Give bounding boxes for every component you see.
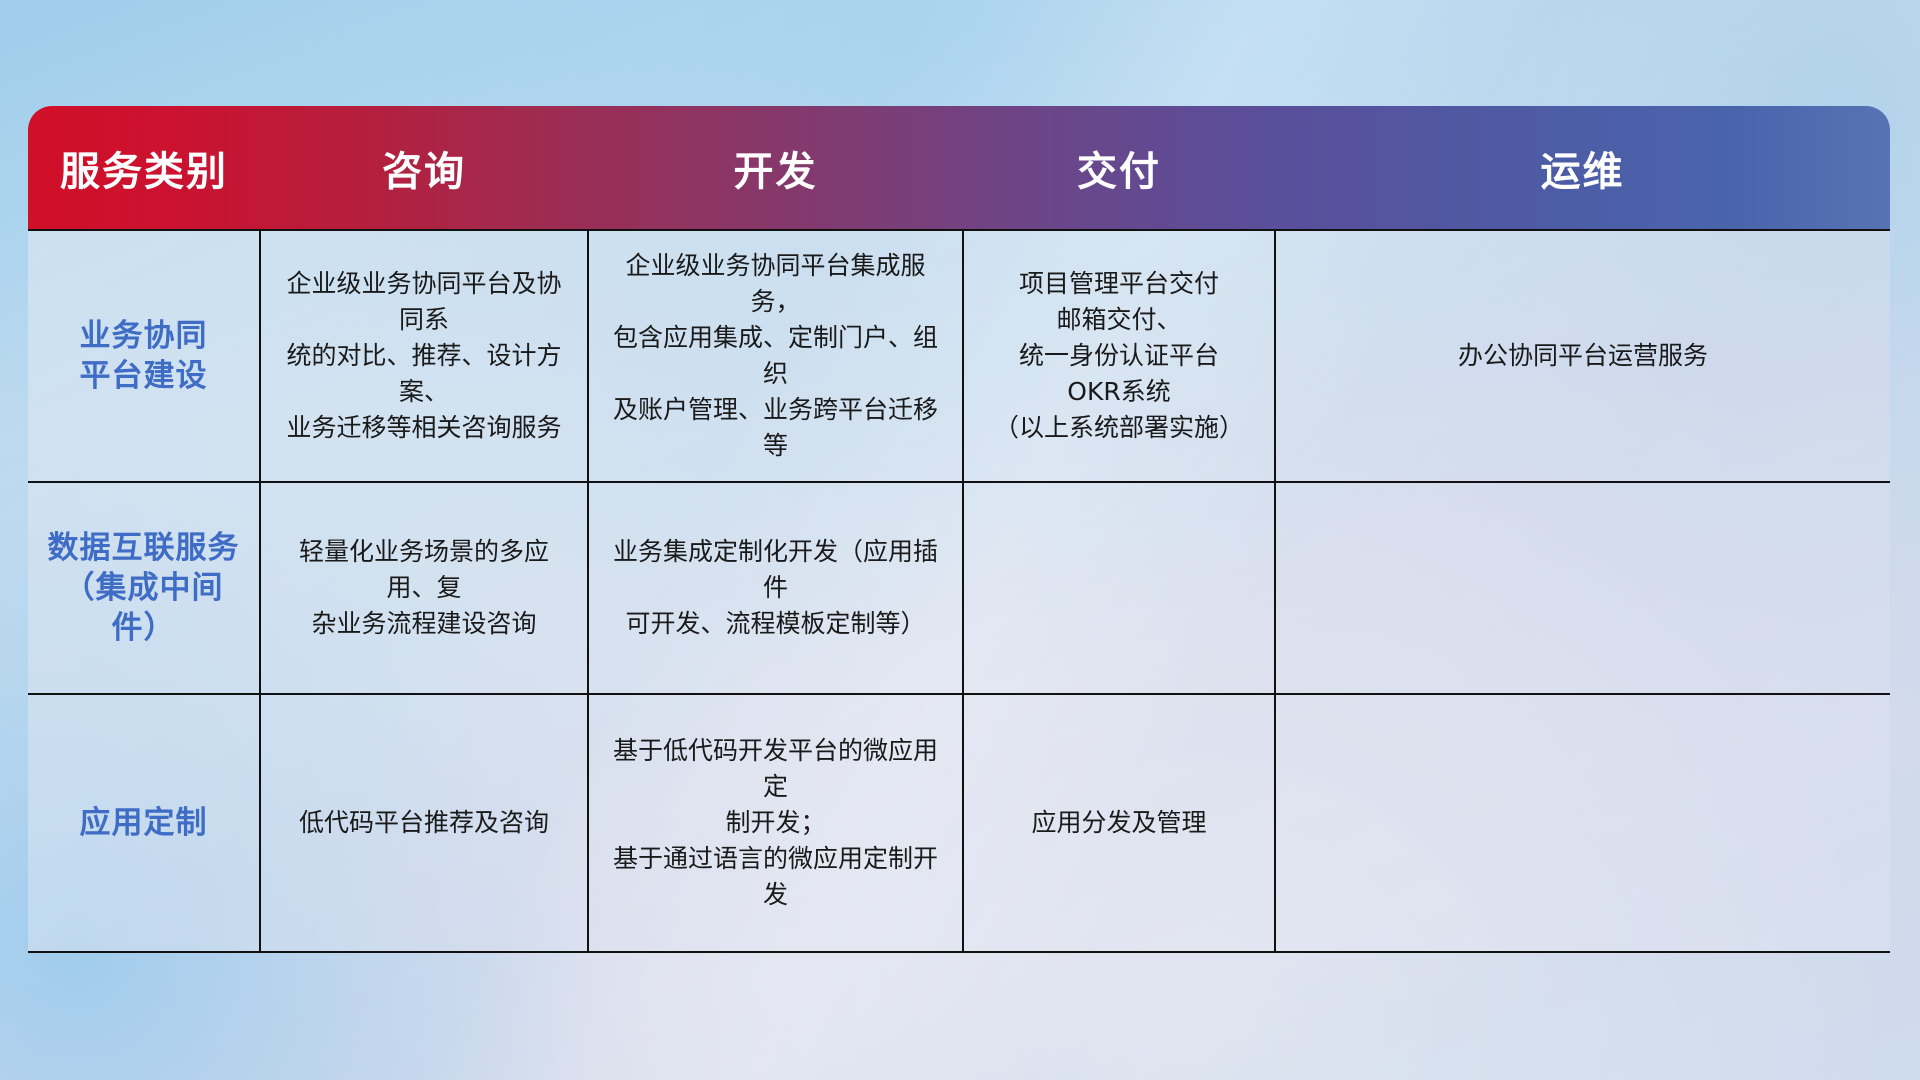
- service-matrix-table-wrapper: 服务类别 咨询 开发 交付 运维 业务协同 平台建设 企业级业务协同平台及协同系…: [28, 106, 1890, 951]
- table-row: 业务协同 平台建设 企业级业务协同平台及协同系 统的对比、推荐、设计方案、 业务…: [28, 230, 1890, 482]
- header-row: 服务类别 咨询 开发 交付 运维: [28, 106, 1890, 230]
- row-category-label: 业务协同 平台建设: [28, 230, 260, 482]
- row-category-label: 应用定制: [28, 694, 260, 952]
- service-matrix-table: 服务类别 咨询 开发 交付 运维 业务协同 平台建设 企业级业务协同平台及协同系…: [28, 106, 1890, 953]
- header-cell-delivery: 交付: [963, 106, 1275, 230]
- cell-consulting: 企业级业务协同平台及协同系 统的对比、推荐、设计方案、 业务迁移等相关咨询服务: [260, 230, 588, 482]
- table-header: 服务类别 咨询 开发 交付 运维: [28, 106, 1890, 230]
- cell-operations: [1275, 482, 1890, 694]
- cell-delivery: 应用分发及管理: [963, 694, 1275, 952]
- header-cell-operations: 运维: [1275, 106, 1890, 230]
- table-row: 应用定制 低代码平台推荐及咨询 基于低代码开发平台的微应用定 制开发； 基于通过…: [28, 694, 1890, 952]
- row-category-label: 数据互联服务 （集成中间件）: [28, 482, 260, 694]
- cell-consulting: 轻量化业务场景的多应用、复 杂业务流程建设咨询: [260, 482, 588, 694]
- table-body: 业务协同 平台建设 企业级业务协同平台及协同系 统的对比、推荐、设计方案、 业务…: [28, 230, 1890, 952]
- cell-delivery: 项目管理平台交付 邮箱交付、 统一身份认证平台 OKR系统 （以上系统部署实施）: [963, 230, 1275, 482]
- header-cell-category: 服务类别: [28, 106, 260, 230]
- table-row: 数据互联服务 （集成中间件） 轻量化业务场景的多应用、复 杂业务流程建设咨询 业…: [28, 482, 1890, 694]
- cell-development: 企业级业务协同平台集成服务， 包含应用集成、定制门户、组织 及账户管理、业务跨平…: [588, 230, 963, 482]
- slide-canvas: 服务类别 咨询 开发 交付 运维 业务协同 平台建设 企业级业务协同平台及协同系…: [0, 0, 1920, 1080]
- cell-operations: 办公协同平台运营服务: [1275, 230, 1890, 482]
- cell-delivery: [963, 482, 1275, 694]
- header-cell-development: 开发: [588, 106, 963, 230]
- cell-development: 基于低代码开发平台的微应用定 制开发； 基于通过语言的微应用定制开发: [588, 694, 963, 952]
- cell-consulting: 低代码平台推荐及咨询: [260, 694, 588, 952]
- cell-operations: [1275, 694, 1890, 952]
- cell-development: 业务集成定制化开发（应用插件 可开发、流程模板定制等）: [588, 482, 963, 694]
- header-cell-consulting: 咨询: [260, 106, 588, 230]
